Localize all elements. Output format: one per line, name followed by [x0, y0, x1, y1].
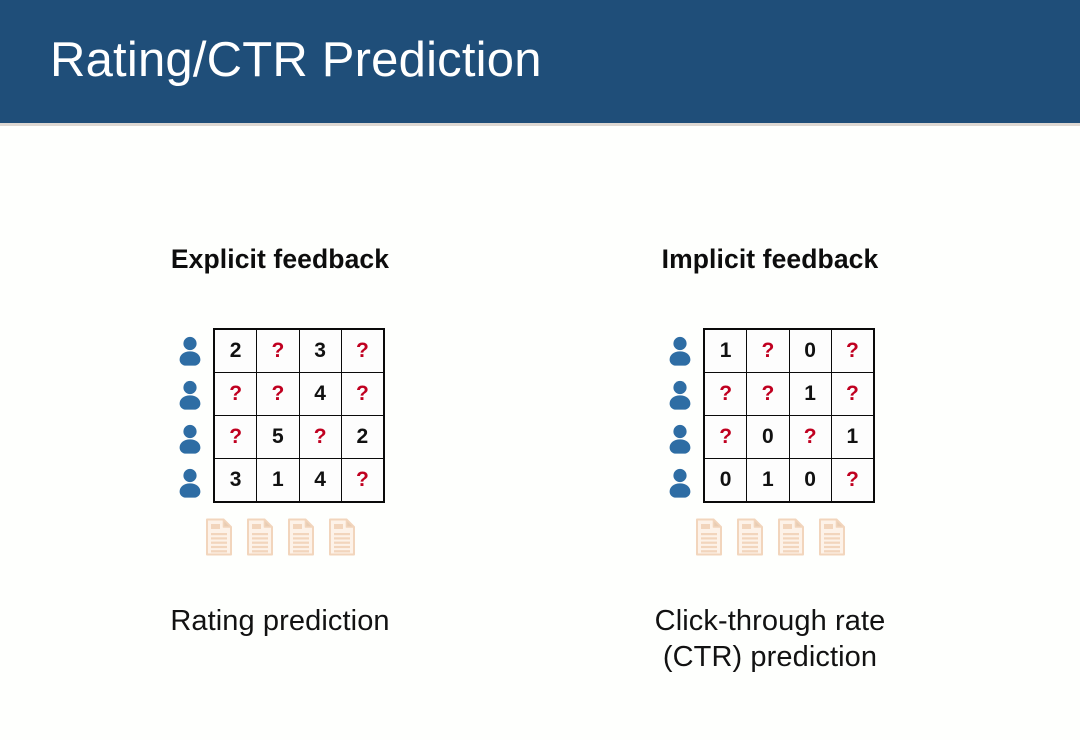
panel-heading-explicit: Explicit feedback — [70, 244, 490, 275]
rating-matrix-implicit: 1?0???1??0?1010? — [703, 328, 875, 503]
document-icon — [246, 518, 274, 556]
user-icon-column-explicit — [175, 328, 205, 505]
slide-content-area: Explicit feedback 2?3???4??5?2314? Ratin… — [0, 126, 1080, 740]
caption-line: Rating prediction — [70, 603, 490, 639]
document-icon — [736, 518, 764, 556]
user-row-3 — [665, 417, 695, 461]
matrix-row: ?0?1 — [704, 416, 874, 459]
matrix-cell-unknown: ? — [831, 373, 874, 416]
matrix-row: 314? — [214, 459, 384, 503]
matrix-cell-value: 1 — [257, 459, 299, 503]
panel-caption-explicit: Rating prediction — [70, 603, 490, 639]
matrix-row: ??1? — [704, 373, 874, 416]
matrix-row: 010? — [704, 459, 874, 503]
matrix-row: ??4? — [214, 373, 384, 416]
matrix-cell-value: 1 — [747, 459, 789, 503]
matrix-cell-unknown: ? — [341, 459, 384, 503]
user-row-4 — [175, 461, 205, 505]
matrix-cell-unknown: ? — [789, 416, 831, 459]
matrix-cell-value: 1 — [831, 416, 874, 459]
matrix-cell-unknown: ? — [257, 373, 299, 416]
person-icon — [665, 329, 695, 373]
matrix-cell-value: 0 — [704, 459, 747, 503]
document-icon-row-explicit — [70, 518, 490, 556]
matrix-cell-value: 4 — [299, 459, 341, 503]
item-3 — [777, 518, 805, 556]
matrix-cell-value: 2 — [214, 329, 257, 373]
matrix-cell-value: 3 — [299, 329, 341, 373]
matrix-cell-unknown: ? — [831, 329, 874, 373]
user-row-2 — [175, 373, 205, 417]
matrix-cell-unknown: ? — [341, 373, 384, 416]
document-icon-row-implicit — [560, 518, 980, 556]
document-icon — [287, 518, 315, 556]
panel-caption-implicit: Click-through rate(CTR) prediction — [560, 603, 980, 675]
matrix-body-explicit: 2?3???4??5?2314? — [214, 329, 384, 502]
rating-matrix-explicit: 2?3???4??5?2314? — [213, 328, 385, 503]
page-title: Rating/CTR Prediction — [50, 28, 542, 92]
matrix-cell-unknown: ? — [747, 373, 789, 416]
matrix-cell-unknown: ? — [704, 416, 747, 459]
person-icon — [665, 373, 695, 417]
matrix-cell-unknown: ? — [299, 416, 341, 459]
matrix-cell-value: 0 — [789, 459, 831, 503]
matrix-cell-value: 0 — [789, 329, 831, 373]
caption-line: (CTR) prediction — [560, 639, 980, 675]
panel-implicit-feedback: Implicit feedback 1?0???1??0?1010? Click… — [560, 126, 980, 740]
person-icon — [665, 417, 695, 461]
matrix-body-implicit: 1?0???1??0?1010? — [704, 329, 874, 502]
user-row-1 — [665, 329, 695, 373]
user-row-4 — [665, 461, 695, 505]
document-icon — [695, 518, 723, 556]
person-icon — [175, 461, 205, 505]
document-icon — [328, 518, 356, 556]
matrix-cell-unknown: ? — [341, 329, 384, 373]
item-4 — [818, 518, 846, 556]
user-row-1 — [175, 329, 205, 373]
person-icon — [175, 373, 205, 417]
matrix-cell-unknown: ? — [747, 329, 789, 373]
matrix-row: 1?0? — [704, 329, 874, 373]
item-1 — [205, 518, 233, 556]
matrix-cell-unknown: ? — [257, 329, 299, 373]
caption-line: Click-through rate — [560, 603, 980, 639]
person-icon — [175, 329, 205, 373]
item-4 — [328, 518, 356, 556]
panel-heading-implicit: Implicit feedback — [560, 244, 980, 275]
matrix-row: ?5?2 — [214, 416, 384, 459]
item-2 — [246, 518, 274, 556]
matrix-cell-value: 4 — [299, 373, 341, 416]
item-3 — [287, 518, 315, 556]
person-icon — [175, 417, 205, 461]
matrix-cell-unknown: ? — [214, 373, 257, 416]
user-icon-column-implicit — [665, 328, 695, 505]
matrix-cell-value: 5 — [257, 416, 299, 459]
document-icon — [205, 518, 233, 556]
matrix-row: 2?3? — [214, 329, 384, 373]
panel-explicit-feedback: Explicit feedback 2?3???4??5?2314? Ratin… — [70, 126, 490, 740]
matrix-cell-value: 1 — [789, 373, 831, 416]
user-row-3 — [175, 417, 205, 461]
matrix-cell-value: 0 — [747, 416, 789, 459]
matrix-cell-value: 3 — [214, 459, 257, 503]
item-2 — [736, 518, 764, 556]
person-icon — [665, 461, 695, 505]
matrix-cell-value: 1 — [704, 329, 747, 373]
slide-header-bar: Rating/CTR Prediction — [0, 0, 1080, 123]
matrix-cell-unknown: ? — [214, 416, 257, 459]
matrix-cell-unknown: ? — [704, 373, 747, 416]
document-icon — [777, 518, 805, 556]
item-1 — [695, 518, 723, 556]
user-row-2 — [665, 373, 695, 417]
document-icon — [818, 518, 846, 556]
matrix-cell-unknown: ? — [831, 459, 874, 503]
matrix-cell-value: 2 — [341, 416, 384, 459]
